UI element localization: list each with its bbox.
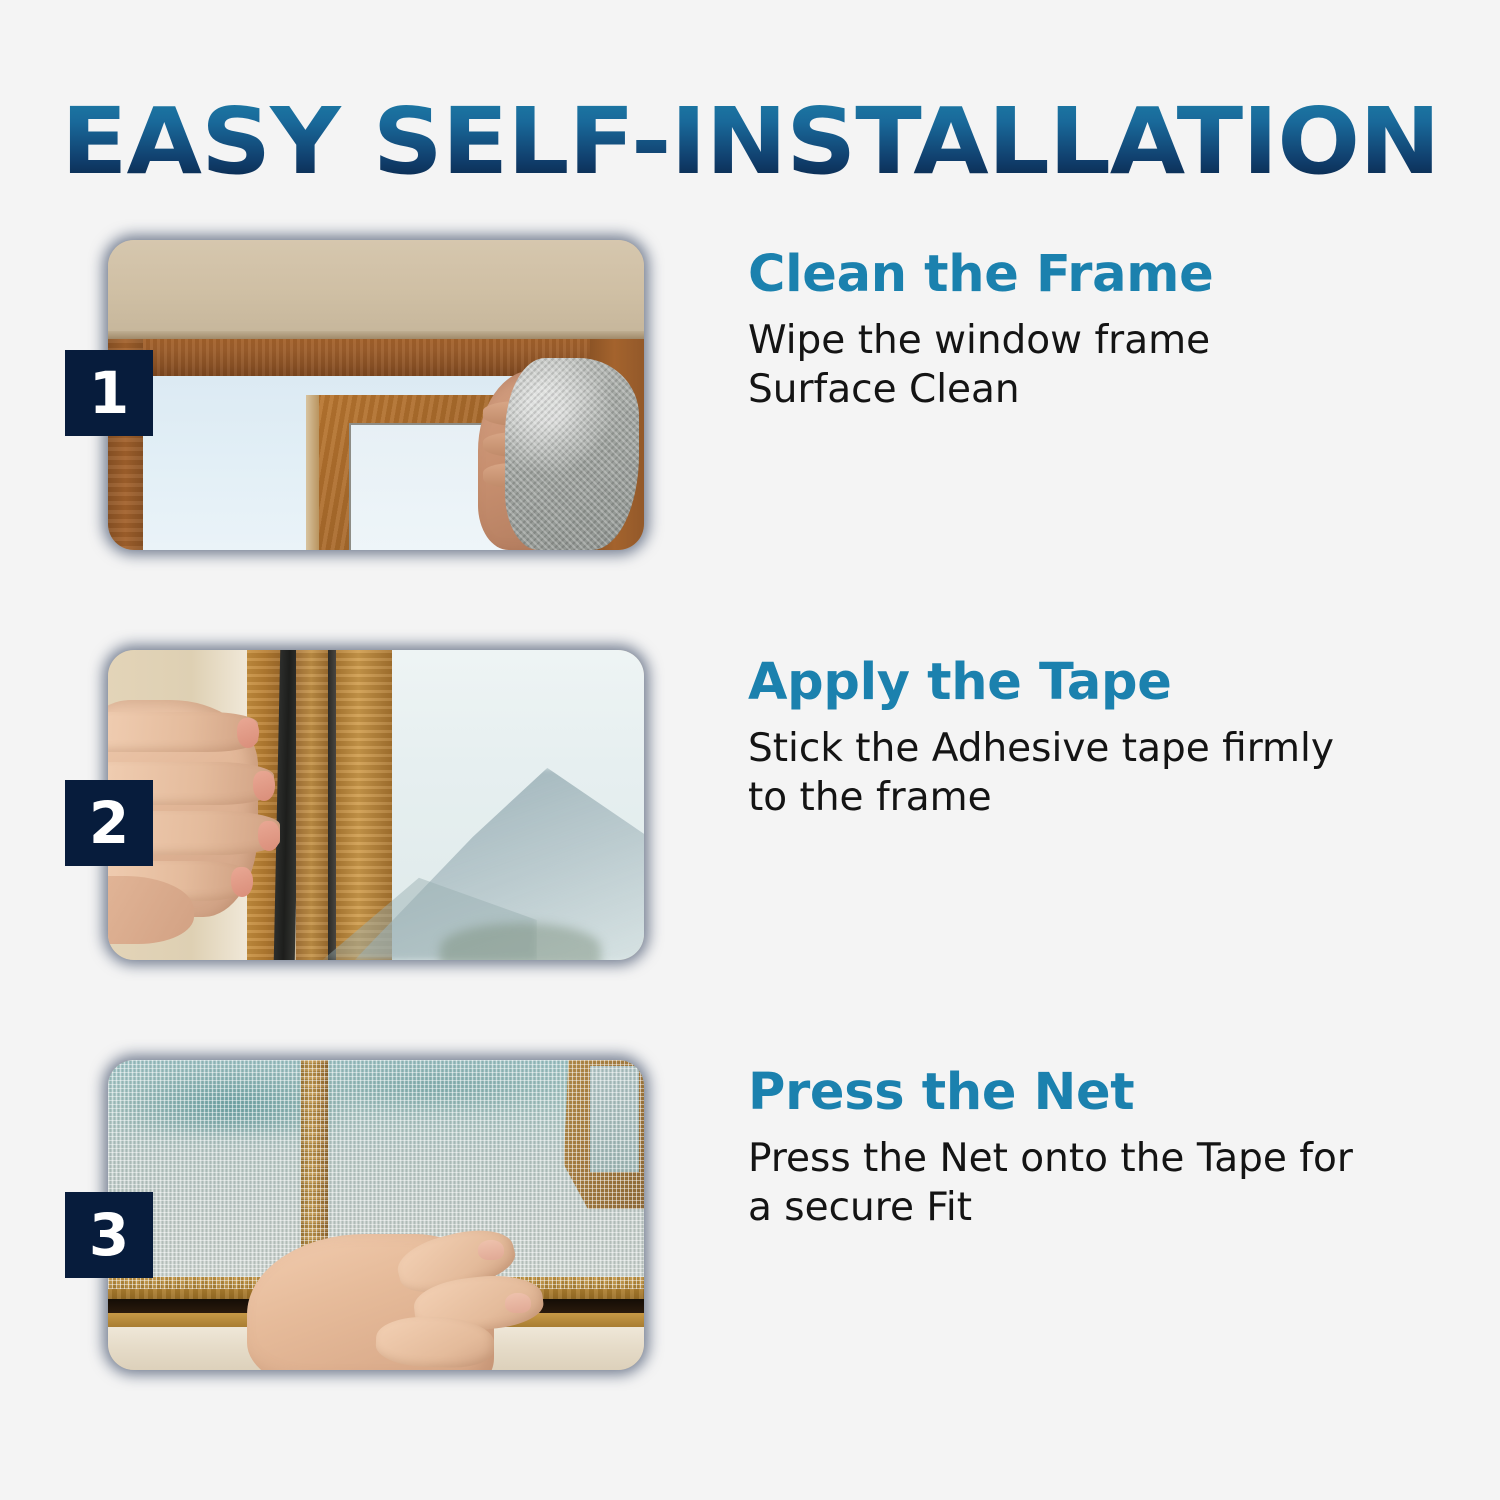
step-1-photo-card: [108, 240, 644, 550]
step-number-1: 1: [89, 364, 129, 422]
step-number-badge-2: 2: [65, 780, 153, 866]
wall-shadow-edge: [108, 331, 644, 339]
cleaning-cloth: [505, 358, 639, 550]
fingernail: [258, 821, 280, 851]
step-1-photo: [108, 240, 644, 550]
step-3-body-line-2: a secure Fit: [748, 1183, 1408, 1233]
step-number-badge-3: 3: [65, 1192, 153, 1278]
step-number-3: 3: [89, 1206, 129, 1264]
step-row-3: 3 Press the Net Press the Net onto the T…: [0, 1060, 1500, 1380]
fingernail: [478, 1240, 504, 1260]
fingernail: [237, 718, 259, 748]
step-3-body-line-1: Press the Net onto the Tape for: [748, 1134, 1408, 1184]
wall-surface: [108, 240, 644, 336]
window-sash-edge: [306, 395, 319, 550]
step-1-heading: Clean the Frame: [748, 248, 1448, 302]
window-glass-right-pane: [590, 1066, 638, 1171]
step-3-photo: [108, 1060, 644, 1370]
step-number-2: 2: [89, 794, 129, 852]
step-3-heading: Press the Net: [748, 1066, 1448, 1120]
step-3-text: Press the Net Press the Net onto the Tap…: [748, 1066, 1448, 1233]
fingernail: [253, 771, 275, 801]
step-2-body-line-1: Stick the Adhesive tape firmly: [748, 724, 1408, 774]
step-row-2: 2 Apply the Tape Stick the Adhesive tape…: [0, 650, 1500, 970]
window-frame-middle: [296, 650, 331, 960]
cloud: [301, 1060, 569, 1116]
step-2-photo: [108, 650, 644, 960]
page-title: EASY SELF-INSTALLATION: [61, 96, 1440, 188]
step-2-heading: Apply the Tape: [748, 656, 1448, 710]
step-row-1: 1 Clean the Frame Wipe the window frame …: [0, 240, 1500, 560]
step-3-photo-card: [108, 1060, 644, 1370]
step-1-body-line-2: Surface Clean: [748, 365, 1408, 415]
step-number-badge-1: 1: [65, 350, 153, 436]
step-2-body-line-2: to the frame: [748, 773, 1408, 823]
step-1-text: Clean the Frame Wipe the window frame Su…: [748, 248, 1448, 415]
fingernail: [505, 1293, 531, 1313]
step-2-text: Apply the Tape Stick the Adhesive tape f…: [748, 656, 1448, 823]
title-bar: EASY SELF-INSTALLATION: [0, 34, 1500, 249]
step-1-body-line-1: Wipe the window frame: [748, 316, 1408, 366]
finger: [108, 712, 258, 752]
step-2-photo-card: [108, 650, 644, 960]
